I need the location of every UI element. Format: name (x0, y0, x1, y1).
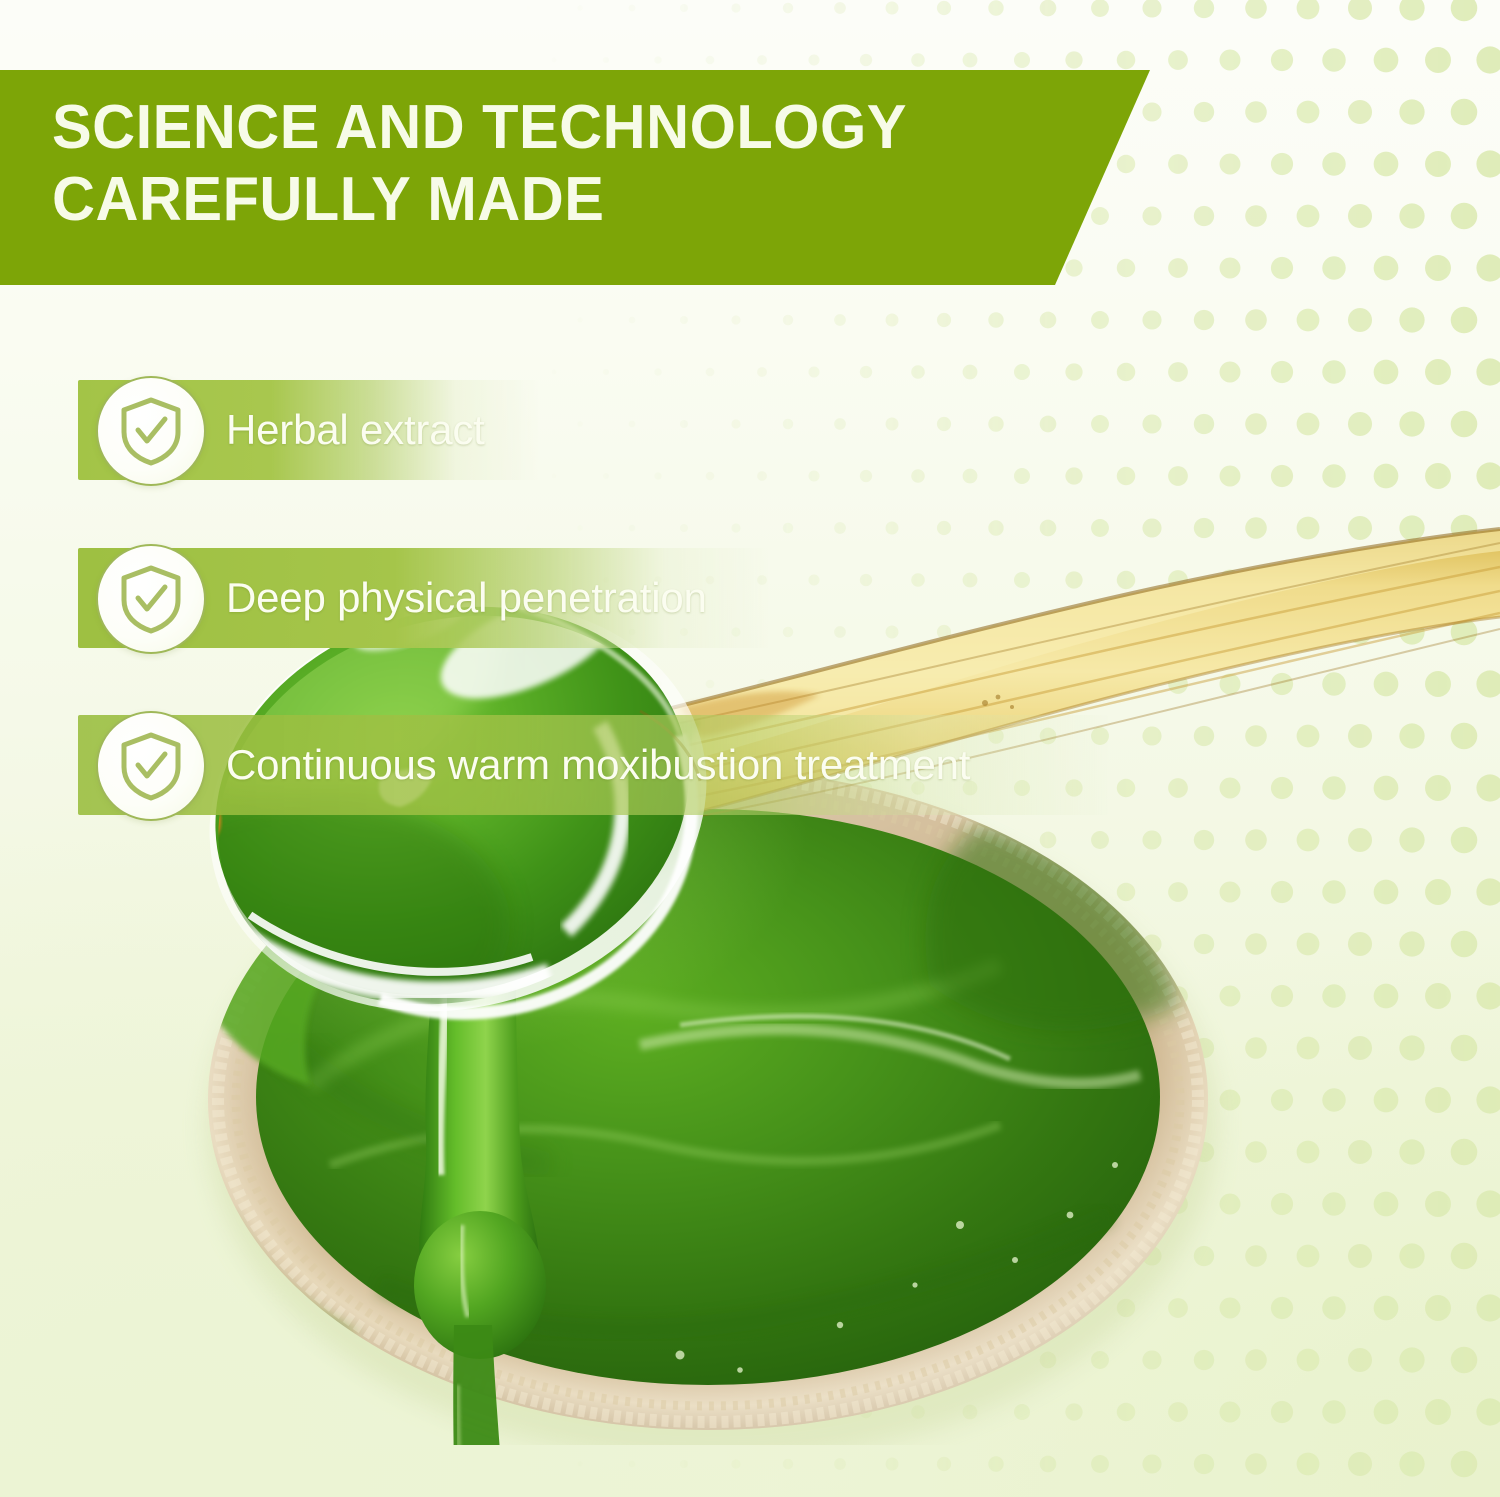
feature-label: Deep physical penetration (226, 548, 707, 648)
shield-check-icon (96, 376, 206, 486)
feature-row-continuous-warm-moxibustion-treatment[interactable]: Continuous warm moxibustion treatment (78, 715, 1248, 815)
shield-check-icon (96, 711, 206, 821)
page-title: SCIENCE AND TECHNOLOGY CAREFULLY MADE (52, 92, 907, 236)
feature-row-deep-physical-penetration[interactable]: Deep physical penetration (78, 548, 908, 648)
feature-label: Herbal extract (226, 380, 485, 480)
feature-row-herbal-extract[interactable]: Herbal extract (78, 380, 678, 480)
product-photo (80, 525, 1500, 1445)
feature-label: Continuous warm moxibustion treatment (226, 715, 970, 815)
product-feature-poster: SCIENCE AND TECHNOLOGY CAREFULLY MADE He… (0, 0, 1500, 1497)
shield-check-icon (96, 544, 206, 654)
